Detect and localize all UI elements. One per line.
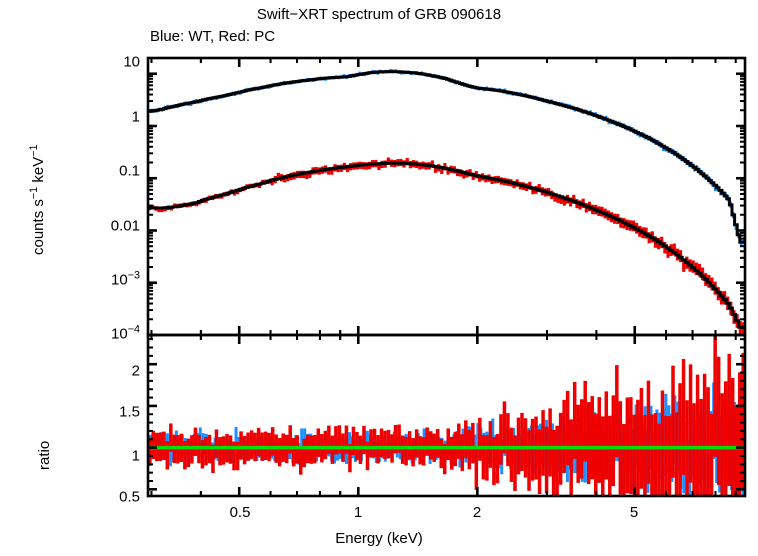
ratio-panel-data (148, 335, 745, 496)
spectrum-figure: Swift−XRT spectrum of GRB 090618 Blue: W… (0, 0, 758, 556)
main-panel-data (148, 69, 745, 334)
plot-canvas (0, 0, 758, 556)
main-panel-model-curves (148, 72, 745, 328)
